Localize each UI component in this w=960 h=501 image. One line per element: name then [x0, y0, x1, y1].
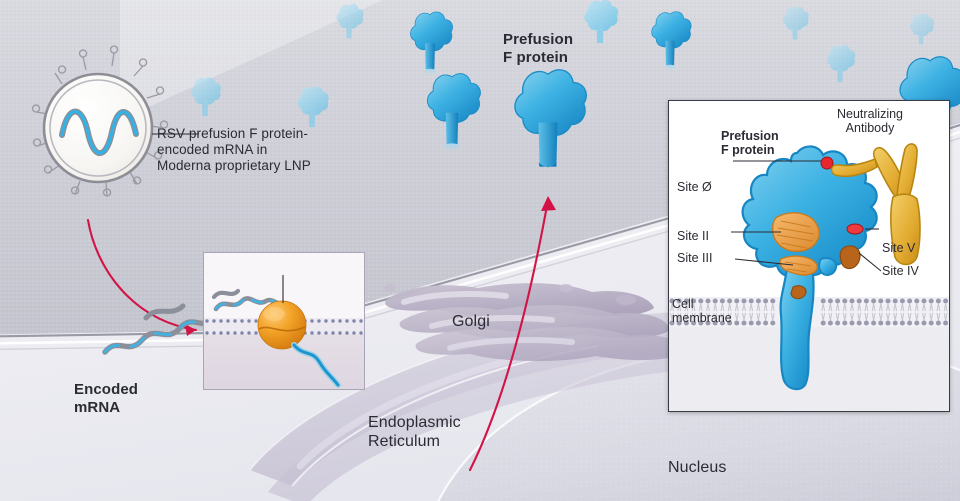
encoded-mrna-label: Encoded mRNA	[74, 381, 138, 416]
site-ii-label: Site II	[677, 229, 709, 243]
site-0-marker	[821, 157, 833, 169]
endoplasmic-reticulum-label: Endoplasmic Reticulum	[368, 414, 461, 452]
ribosome-sphere	[258, 301, 306, 349]
neutralizing-antibody-label: Neutralizing Antibody	[837, 107, 903, 136]
site-v-label: Site V	[882, 241, 915, 255]
prefusion-detail-inset: Prefusion F protein Neutralizing Antibod…	[668, 100, 950, 412]
site-iii-label: Site III	[677, 251, 712, 265]
inset-prefusion-title: Prefusion F protein	[721, 129, 779, 158]
prefusion-f-protein-label: Prefusion F protein	[503, 31, 573, 66]
site-iv-patch	[840, 246, 860, 269]
golgi-label: Golgi	[452, 313, 490, 332]
site-iv-label: Site IV	[882, 264, 919, 278]
ribosome-illustration	[204, 253, 364, 389]
diagram-canvas: RSV prefusion F protein- encoded mRNA in…	[0, 0, 960, 501]
site-v-marker	[847, 224, 863, 234]
lnp-callout-label: RSV prefusion F protein- encoded mRNA in…	[157, 126, 311, 174]
ribosome-inset-panel: Ribosome	[203, 252, 365, 390]
site-0-label: Site Ø	[677, 180, 712, 194]
nucleus-label: Nucleus	[668, 459, 727, 478]
cell-membrane-label: Cell membrane	[672, 297, 732, 326]
